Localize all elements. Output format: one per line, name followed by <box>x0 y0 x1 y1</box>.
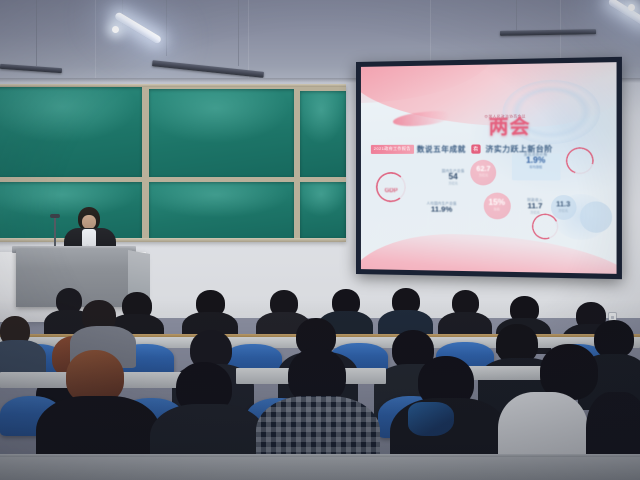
slide-stat-gdp: GDP <box>378 188 404 194</box>
projection-screen-surface: 中国人民政治协商会议 两会 2021政府工作报告 数说五年成就 看 济实力跃上新… <box>361 62 617 274</box>
slide-headline: 数说五年成就 <box>417 143 466 154</box>
light-wire <box>36 0 37 66</box>
desk-foreground-edge <box>0 454 640 457</box>
slide-stat-5: 11.3 万亿元 <box>550 201 576 213</box>
chalkboard-top-rail <box>0 84 346 87</box>
desk-foreground <box>0 456 640 480</box>
chalkboard-divider <box>294 87 299 240</box>
slide-stat-2: 人均国内生产总值 11.9% <box>415 201 468 214</box>
lecture-hall-photo: 中国人民政治协商会议 两会 2021政府工作报告 数说五年成就 看 济实力跃上新… <box>0 0 640 480</box>
chalkboard-divider <box>143 85 148 242</box>
slide-stat-3: 15% 左右 <box>483 199 510 211</box>
audience-head <box>594 320 634 358</box>
slide-donut-right-top <box>562 143 598 178</box>
chalkboard-divider <box>0 177 346 182</box>
presentation-slide: 中国人民政治协商会议 两会 2021政府工作报告 数说五年成就 看 济实力跃上新… <box>361 62 617 274</box>
slide-headline-badge: 看 <box>471 144 480 153</box>
light-wire <box>238 0 239 66</box>
chalkboard-panel-left-top <box>0 87 142 177</box>
slide-stat-6: 居民消费价格 1.9% 年均涨幅 <box>511 151 560 169</box>
slide-stat-4: 财政收入 11.7 万亿元 <box>519 197 551 214</box>
chalkboard-panel-right-top <box>300 91 346 177</box>
chalk-rail <box>0 238 346 242</box>
slide-bubble-right <box>579 202 611 234</box>
light-wire <box>166 0 167 56</box>
slide-main-title: 两会 <box>426 118 595 137</box>
chalkboard-panel-right-bottom <box>300 182 346 238</box>
slide-donut-left <box>370 166 412 209</box>
slide-stat-1: 62.7 万亿元 <box>471 166 497 177</box>
chalkboard-panel-center-top <box>149 89 294 177</box>
slide-headline-group: 中国人民政治协商会议 两会 <box>381 113 596 137</box>
projection-screen[interactable]: 中国人民政治协商会议 两会 2021政府工作报告 数说五年成就 看 济实力跃上新… <box>356 57 622 279</box>
slide-stat-0: 国内生产总值 54 万亿元 <box>433 168 474 185</box>
microphone-icon <box>50 214 60 218</box>
tube-endcap <box>628 4 635 11</box>
slide-tag: 2021政府工作报告 <box>371 145 414 154</box>
chalkboard-panel-center-bottom <box>149 182 294 240</box>
tube-endcap <box>112 26 119 33</box>
light-wire <box>516 0 517 30</box>
presenter-face <box>82 215 96 229</box>
audience-jacket-print <box>408 402 454 436</box>
